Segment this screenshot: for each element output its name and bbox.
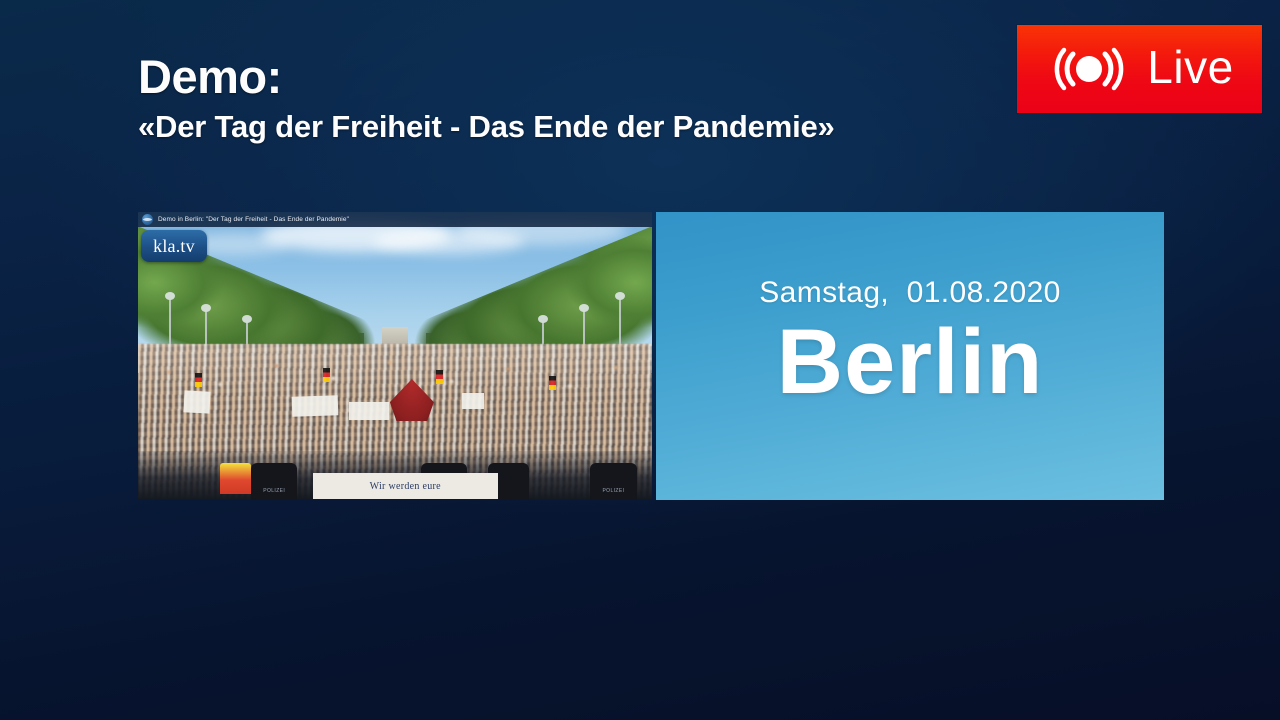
- event-info-panel: Samstag, 01.08.2020 Berlin: [656, 212, 1164, 500]
- flag: [323, 368, 330, 382]
- page-title: Demo:: [138, 52, 835, 101]
- video-player[interactable]: POLIZEI POLIZEI Wir werden eure Demo in …: [138, 212, 652, 500]
- flag: [436, 370, 443, 384]
- heading-block: Demo: «Der Tag der Freiheit - Das Ende d…: [138, 52, 835, 144]
- kla-tv-watermark: kla.tv: [141, 230, 207, 262]
- flag: [195, 373, 202, 387]
- police-officer: POLIZEI: [251, 463, 297, 500]
- live-badge-label: Live: [1147, 44, 1233, 94]
- video-caption-text: Demo in Berlin: "Der Tag der Freiheit - …: [158, 216, 349, 223]
- broadcast-live-icon: [1045, 41, 1133, 97]
- kla-tv-watermark-label: kla.tv: [153, 236, 195, 257]
- police-label: POLIZEI: [590, 488, 636, 494]
- protest-placard: [184, 390, 211, 413]
- live-badge: Live: [1017, 25, 1262, 113]
- protest-placard: [462, 393, 484, 409]
- flag: [549, 376, 556, 390]
- protest-placard: [292, 396, 339, 418]
- safety-vest: [220, 463, 251, 495]
- event-date: Samstag, 01.08.2020: [759, 276, 1061, 310]
- police-label: POLIZEI: [251, 488, 297, 494]
- video-caption-bar: Demo in Berlin: "Der Tag der Freiheit - …: [138, 212, 652, 227]
- kla-tv-circle-icon: [142, 214, 153, 225]
- event-city: Berlin: [777, 314, 1044, 411]
- media-row: POLIZEI POLIZEI Wir werden eure Demo in …: [138, 212, 1164, 500]
- video-scene: POLIZEI POLIZEI Wir werden eure: [138, 212, 652, 500]
- protest-banner: Wir werden eure: [313, 473, 498, 499]
- police-officer: POLIZEI: [590, 463, 636, 500]
- protest-banner-text: Wir werden eure: [370, 481, 441, 492]
- protest-placard: [349, 402, 389, 420]
- page-subtitle: «Der Tag der Freiheit - Das Ende der Pan…: [138, 110, 835, 144]
